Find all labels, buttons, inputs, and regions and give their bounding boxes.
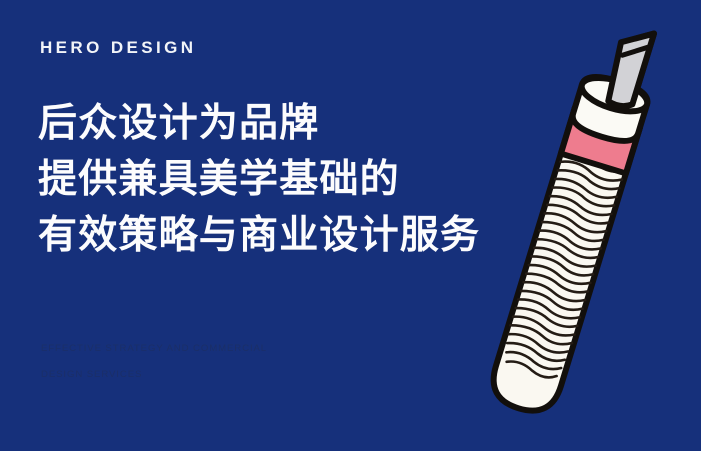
craft-knife-svg bbox=[440, 0, 701, 451]
knife-group bbox=[486, 18, 667, 418]
brand-name: HERO DESIGN bbox=[40, 38, 196, 58]
subtitle-line-1: EFFECTIVE STRATEGY AND COMMERCIAL bbox=[41, 336, 361, 362]
subtitle-line-2: DESIGN SERVICES bbox=[41, 362, 361, 388]
subtitle-block: EFFECTIVE STRATEGY AND COMMERCIAL DESIGN… bbox=[41, 336, 361, 388]
poster-canvas: HERO DESIGN 后众设计为品牌 提供兼具美学基础的 有效策略与商业设计服… bbox=[0, 0, 701, 451]
craft-knife-illustration bbox=[440, 0, 701, 451]
